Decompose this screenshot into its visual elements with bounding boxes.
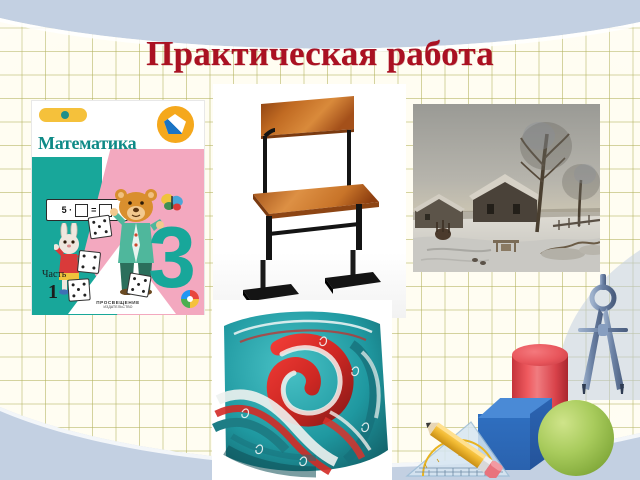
equation-equals: = <box>91 205 96 215</box>
book-part-label: Часть <box>42 269 66 280</box>
publisher-sub: ИЗДАТЕЛЬСТВО <box>103 305 132 309</box>
die-2 <box>77 250 101 274</box>
silk-scarf-illustration <box>212 300 392 480</box>
book-title: Математика <box>38 133 188 154</box>
winter-landscape-painting <box>413 104 600 272</box>
die-3 <box>67 278 90 301</box>
winter-landscape-art <box>413 104 600 272</box>
math-textbook-cover: Математика 5 ·= <box>31 100 205 315</box>
silk-scarf-photo <box>212 300 392 480</box>
book-publisher: ПРОСВЕЩЕНИЕ ИЗДАТЕЛЬСТВО <box>96 300 140 309</box>
right-arc-decoration <box>520 250 640 400</box>
page-title: Практическая работа <box>0 34 640 74</box>
slide: Практическая работа <box>0 0 640 480</box>
school-chair-photo <box>213 84 406 318</box>
equation-factor: 5 · <box>62 205 73 215</box>
book-cd-icon <box>181 290 199 308</box>
book-part-number: 1 <box>48 281 58 304</box>
school-chair-illustration <box>213 84 406 318</box>
book-grade-number: 3 <box>148 225 196 292</box>
equation-empty-box-1 <box>75 204 88 217</box>
die-1 <box>88 215 113 240</box>
book-yellow-tab <box>39 108 87 122</box>
